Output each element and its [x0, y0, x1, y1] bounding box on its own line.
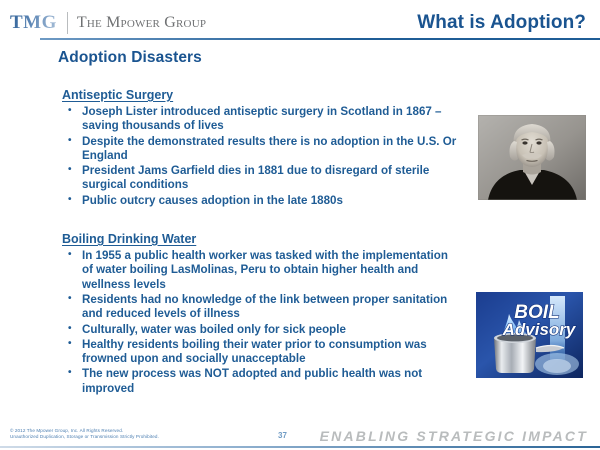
section-heading: Adoption Disasters: [58, 49, 202, 67]
footer-tagline: ENABLING STRATEGIC IMPACT: [320, 428, 588, 444]
list-item: In 1955 a public health worker was taske…: [62, 249, 462, 292]
brand-logo: TMG The Mpower Group: [10, 11, 206, 35]
copyright-line-2: Unauthorized Duplication, Storage or Tra…: [10, 434, 159, 440]
logo-divider: [67, 12, 68, 34]
portrait-illustration: [478, 115, 586, 200]
boil-advisory-illustration: BOIL Advisory: [476, 292, 583, 378]
lister-portrait-image: [478, 115, 586, 200]
list-item: The new process was NOT adopted and publ…: [62, 367, 462, 396]
list-item: Healthy residents boiling their water pr…: [62, 338, 462, 367]
slide-canvas: TMG The Mpower Group What is Adoption? A…: [0, 0, 600, 450]
boil-advisory-line2-text: Advisory: [502, 320, 577, 339]
list-item: Residents had no knowledge of the link b…: [62, 293, 462, 322]
bullet-list: In 1955 a public health worker was taske…: [62, 249, 462, 396]
group-antiseptic-surgery: Antiseptic Surgery Joseph Lister introdu…: [62, 86, 462, 208]
boil-advisory-image: BOIL Advisory: [476, 292, 583, 378]
bullet-list: Joseph Lister introduced antiseptic surg…: [62, 105, 462, 208]
group-boiling-drinking-water: Boiling Drinking Water In 1955 a public …: [62, 230, 462, 396]
list-item: Joseph Lister introduced antiseptic surg…: [62, 105, 462, 134]
page-title: What is Adoption?: [417, 12, 586, 34]
copyright-notice: © 2012 The Mpower Group, Inc. All Rights…: [10, 428, 159, 441]
header-divider: [40, 38, 600, 40]
list-item: Public outcry causes adoption in the lat…: [62, 194, 462, 208]
list-item: Despite the demonstrated results there i…: [62, 135, 462, 164]
list-item: Culturally, water was boiled only for si…: [62, 323, 462, 337]
list-item: President Jams Garfield dies in 1881 due…: [62, 164, 462, 193]
group-title: Boiling Drinking Water: [62, 232, 196, 246]
logo-wordmark: The Mpower Group: [77, 13, 206, 33]
content-body: Antiseptic Surgery Joseph Lister introdu…: [62, 86, 462, 412]
page-number: 37: [278, 431, 287, 440]
footer-divider: [0, 446, 600, 448]
logo-mark-tmg: TMG: [10, 12, 57, 34]
group-title: Antiseptic Surgery: [62, 88, 173, 102]
